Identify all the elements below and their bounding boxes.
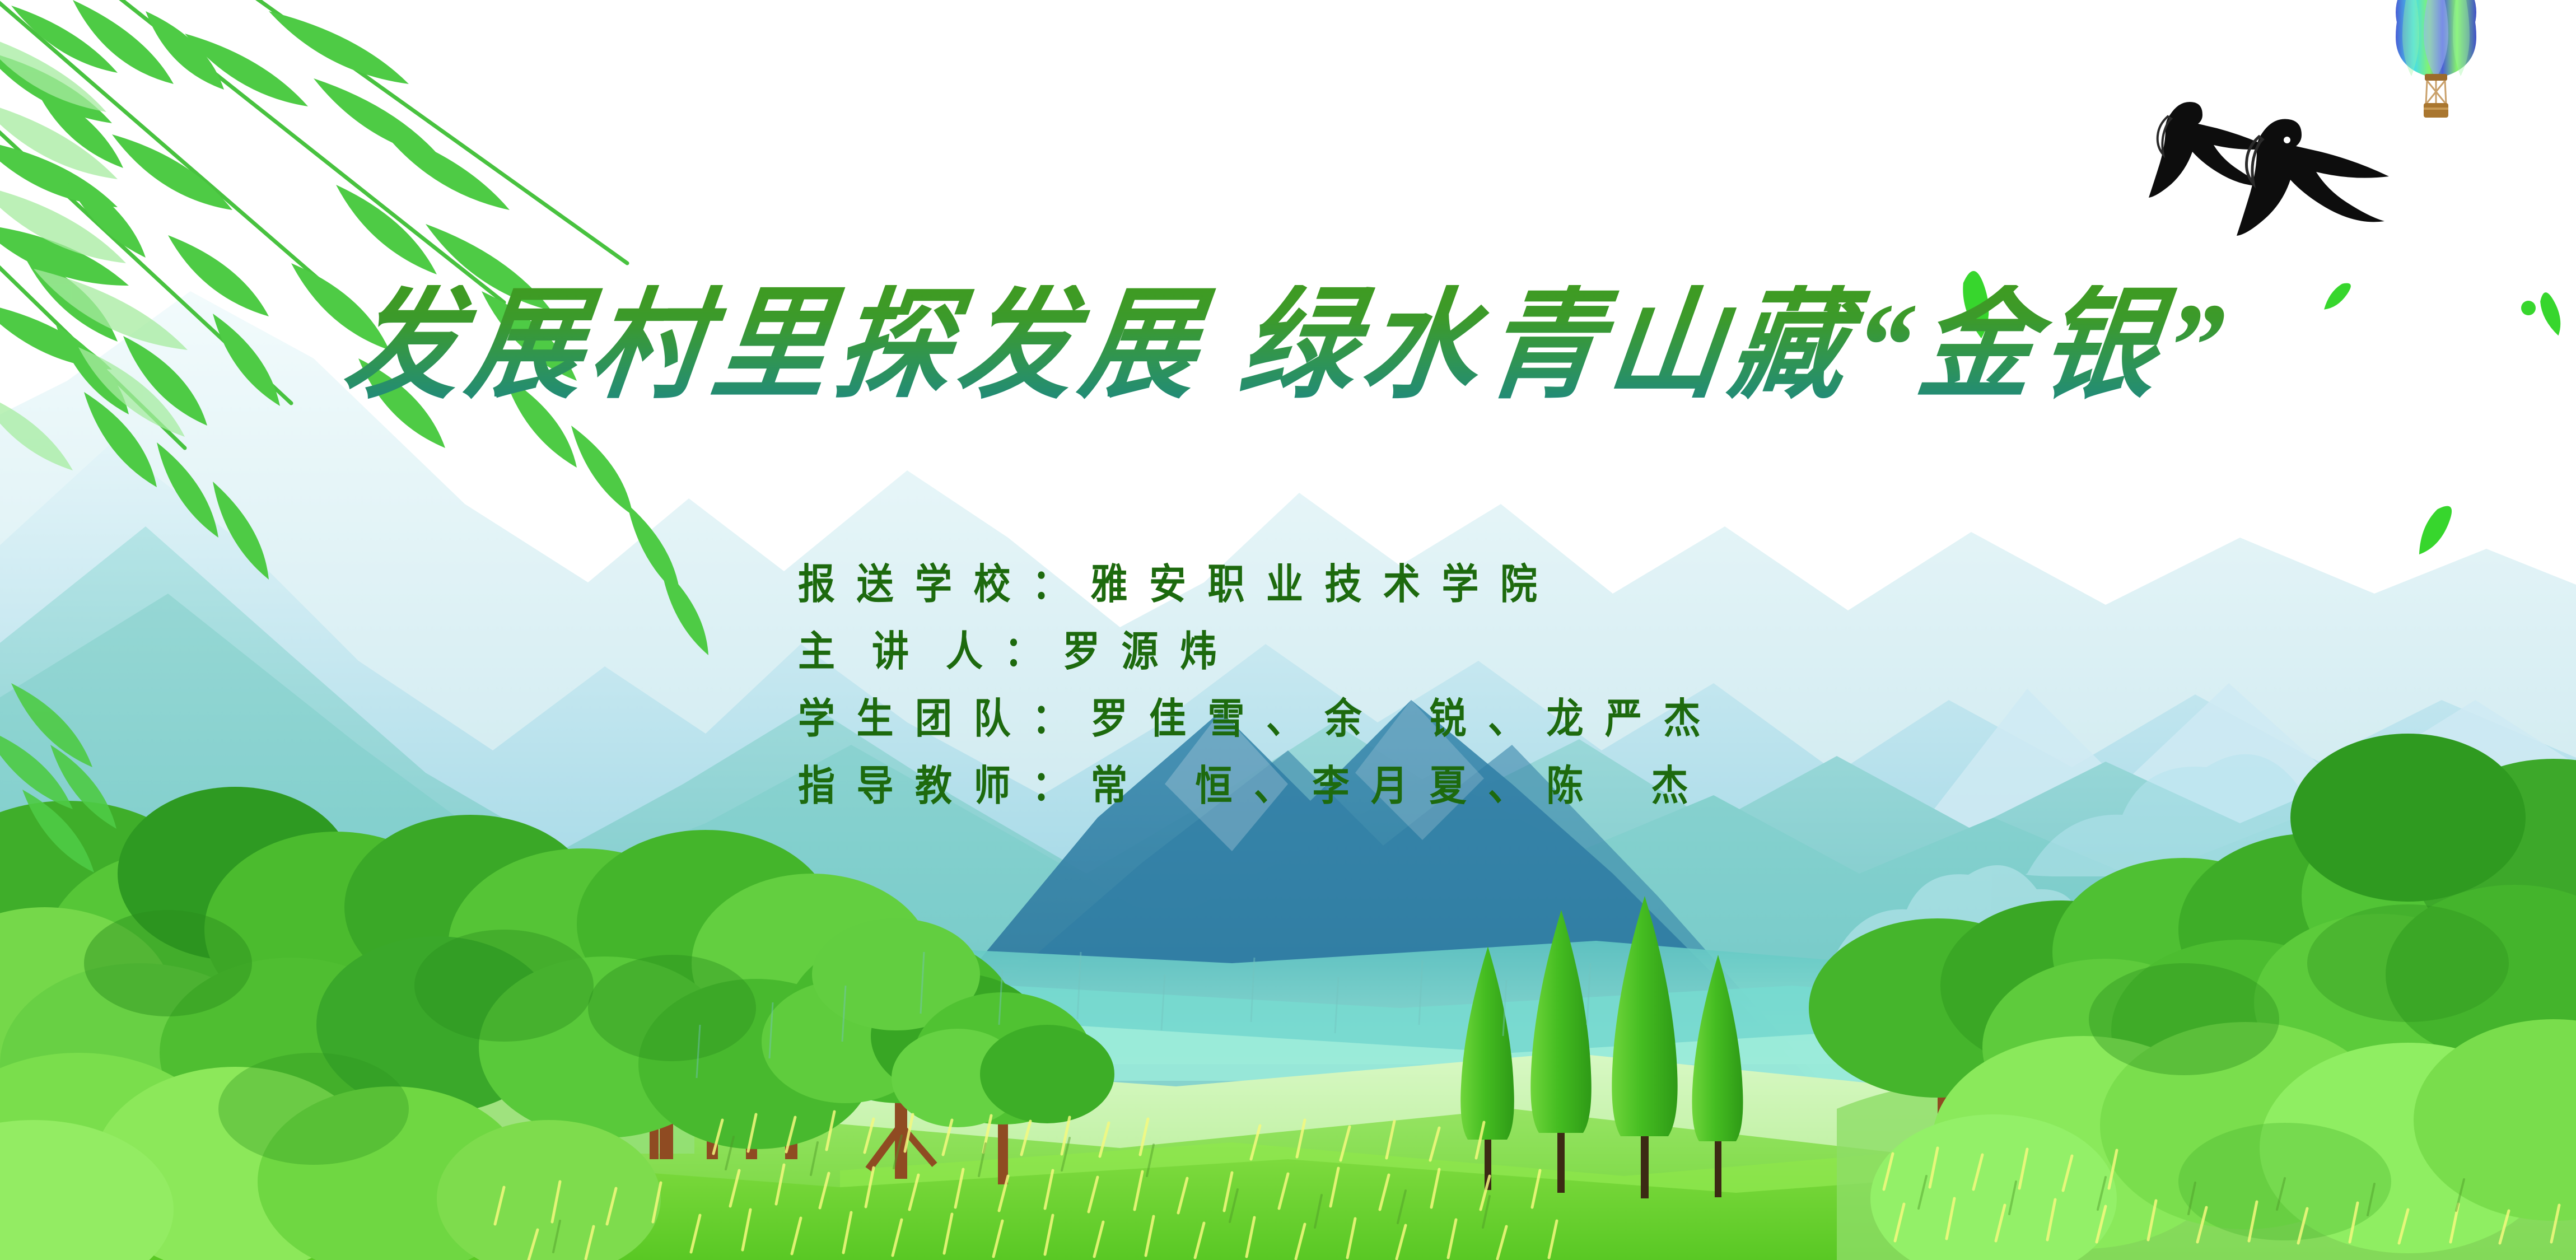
- balloon-basket: [2424, 103, 2448, 118]
- balloon-stripe-highlights: [2402, 0, 2470, 78]
- scenery-illustration: [0, 0, 2576, 1260]
- poster-canvas: 发展村里探发展 绿水青山藏“金银” 报 送 学 校 ： 雅 安 职 业 技 术 …: [0, 0, 2576, 1260]
- balloon-ring: [2425, 74, 2447, 81]
- floating-dot: [2521, 301, 2536, 315]
